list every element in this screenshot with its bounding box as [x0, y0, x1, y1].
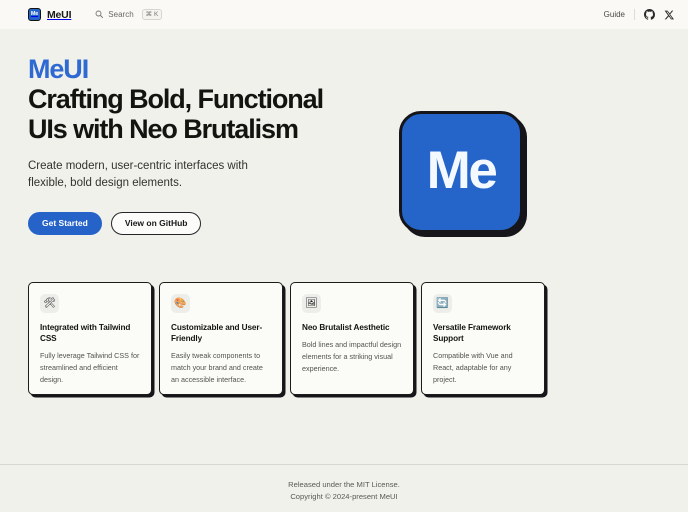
- site-header: Me MeUI Search ⌘ K Guide: [0, 0, 688, 29]
- header-divider: [634, 9, 635, 20]
- github-icon[interactable]: [644, 9, 655, 20]
- view-on-github-button[interactable]: View on GitHub: [111, 212, 202, 235]
- hero-section: MeUI Crafting Bold, Functional UIs with …: [0, 29, 688, 235]
- feature-card[interactable]: 🎨 Customizable and User-Friendly Easily …: [159, 282, 283, 395]
- page-title: Crafting Bold, Functional UIs with Neo B…: [28, 85, 358, 143]
- search-icon: [95, 10, 103, 18]
- feature-card-title: Neo Brutalist Aesthetic: [302, 322, 402, 333]
- header-actions: Guide: [604, 9, 674, 20]
- brand-logo-text: Me: [31, 12, 38, 18]
- feature-card-description: Bold lines and impactful design elements…: [302, 339, 402, 375]
- x-twitter-icon[interactable]: [664, 10, 674, 20]
- page-root: Me MeUI Search ⌘ K Guide: [0, 0, 688, 512]
- brand-home-link[interactable]: Me MeUI: [28, 8, 71, 21]
- search-shortcut-badge: ⌘ K: [142, 9, 163, 21]
- get-started-button[interactable]: Get Started: [28, 212, 102, 235]
- feature-card-description: Fully leverage Tailwind CSS for streamli…: [40, 350, 140, 386]
- hero-logo-text: Me: [427, 144, 496, 197]
- footer-license: Released under the MIT License.: [0, 479, 688, 491]
- search-label: Search: [108, 10, 133, 19]
- hero-text-block: MeUI Crafting Bold, Functional UIs with …: [28, 55, 358, 235]
- feature-card[interactable]: 🖼 Neo Brutalist Aesthetic Bold lines and…: [290, 282, 414, 395]
- feature-card[interactable]: 🛠 Integrated with Tailwind CSS Fully lev…: [28, 282, 152, 395]
- counterclockwise-arrows-icon: 🔄: [433, 294, 452, 313]
- feature-card-description: Compatible with Vue and React, adaptable…: [433, 350, 533, 386]
- hero-cta-row: Get Started View on GitHub: [28, 212, 358, 235]
- nav-link-guide[interactable]: Guide: [604, 10, 625, 19]
- palette-icon: 🎨: [171, 294, 190, 313]
- brand-name: MeUI: [47, 9, 71, 21]
- hero-logo-tile: Me: [399, 111, 523, 233]
- search-button[interactable]: Search ⌘ K: [95, 9, 162, 21]
- feature-card[interactable]: 🔄 Versatile Framework Support Compatible…: [421, 282, 545, 395]
- feature-card-grid: 🛠 Integrated with Tailwind CSS Fully lev…: [28, 282, 545, 395]
- brand-logo-icon: Me: [28, 8, 41, 21]
- main-content: MeUI Crafting Bold, Functional UIs with …: [0, 29, 688, 464]
- feature-card-description: Easily tweak components to match your br…: [171, 350, 271, 386]
- hero-subtitle: Create modern, user-centric interfaces w…: [28, 158, 278, 194]
- hero-eyebrow: MeUI: [28, 55, 358, 83]
- site-footer: Released under the MIT License. Copyrigh…: [0, 464, 688, 512]
- feature-card-title: Integrated with Tailwind CSS: [40, 322, 140, 344]
- footer-copyright: Copyright © 2024-present MeUI: [0, 491, 688, 503]
- hero-logo-graphic: Me: [399, 111, 523, 233]
- framed-picture-icon: 🖼: [302, 294, 321, 313]
- hammer-and-wrench-icon: 🛠: [40, 294, 59, 313]
- feature-card-title: Versatile Framework Support: [433, 322, 533, 344]
- feature-card-title: Customizable and User-Friendly: [171, 322, 271, 344]
